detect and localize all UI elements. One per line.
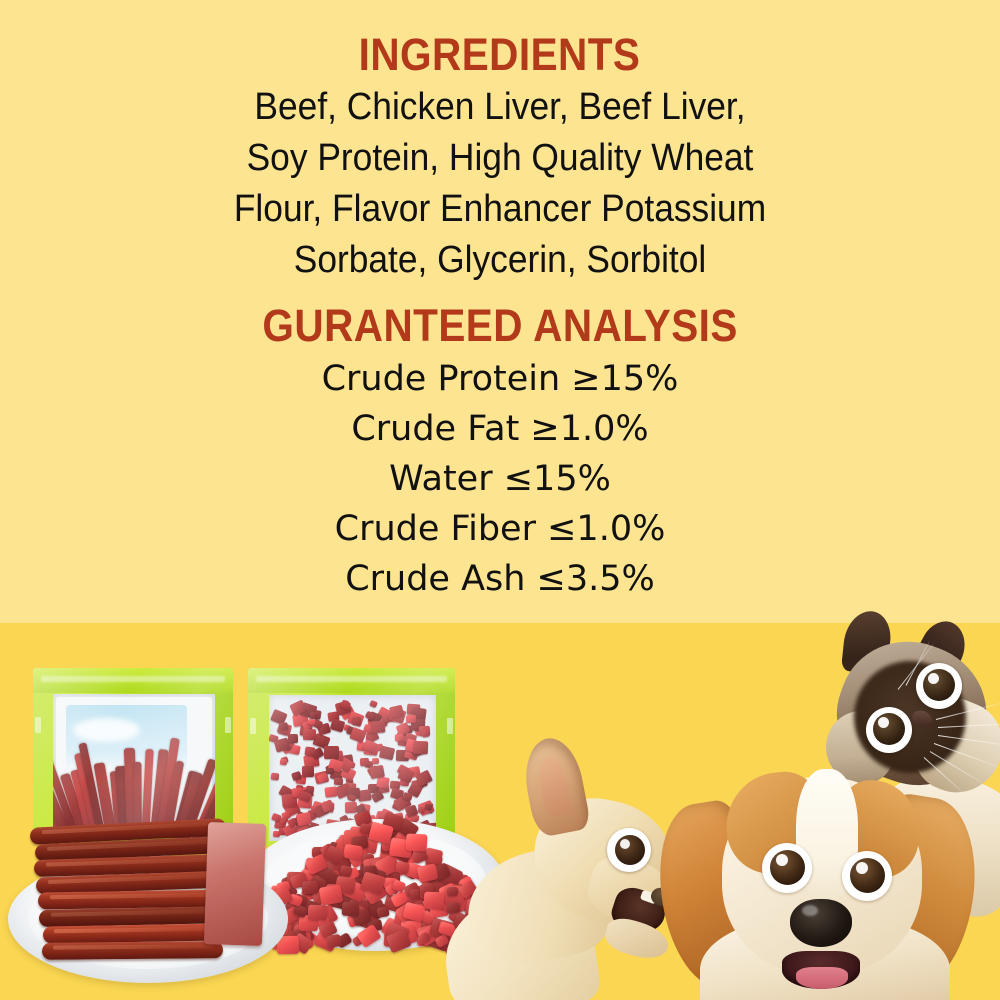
puppy-eye-right — [842, 851, 892, 901]
cat-whisker — [936, 701, 1000, 720]
puppy — [660, 755, 990, 1000]
cat-whisker — [938, 735, 1000, 747]
stick-stack-cut-ends — [204, 822, 266, 946]
analysis-line: Crude Protein ≥15% — [0, 354, 1000, 404]
ingredients-heading: INGREDIENTS — [359, 32, 641, 78]
chihuahua-eye — [607, 828, 651, 872]
chihuahua-ear — [518, 734, 591, 839]
package-notch-right — [447, 718, 453, 734]
ingredients-list: Beef, Chicken Liver, Beef Liver, Soy Pro… — [0, 82, 1000, 286]
package-top-seal — [33, 668, 233, 693]
puppy-nose — [790, 899, 852, 947]
analysis-line: Crude Fat ≥1.0% — [0, 404, 1000, 454]
package-notch-right — [225, 717, 231, 733]
cat-whisker — [938, 723, 1000, 728]
package-notch-left — [35, 717, 41, 733]
package-top-seal — [248, 668, 455, 693]
analysis-line: Crude Ash ≤3.5% — [0, 554, 1000, 604]
guaranteed-analysis-list: Crude Protein ≥15% Crude Fat ≥1.0% Water… — [0, 354, 1000, 604]
ingredients-line: Sorbate, Glycerin, Sorbitol — [35, 235, 965, 286]
chihuahua-pupil — [615, 835, 645, 865]
ingredients-line: Beef, Chicken Liver, Beef Liver, — [35, 82, 965, 133]
analysis-line: Crude Fiber ≤1.0% — [0, 504, 1000, 554]
analysis-line: Water ≤15% — [0, 454, 1000, 504]
cat-whisker — [906, 641, 930, 686]
product-info-graphic: INGREDIENTS Beef, Chicken Liver, Beef Li… — [0, 0, 1000, 1000]
puppy-tongue — [796, 967, 848, 989]
chihuahua-inner-ear — [536, 754, 573, 818]
ingredients-line: Soy Protein, High Quality Wheat — [35, 133, 965, 184]
puppy-eye-left — [762, 843, 812, 893]
ingredients-line: Flour, Flavor Enhancer Potassium — [35, 184, 965, 235]
package-notch-left — [250, 718, 256, 734]
info-panel: INGREDIENTS Beef, Chicken Liver, Beef Li… — [0, 0, 1000, 623]
guaranteed-analysis-heading: GURANTEED ANALYSIS — [262, 303, 737, 349]
